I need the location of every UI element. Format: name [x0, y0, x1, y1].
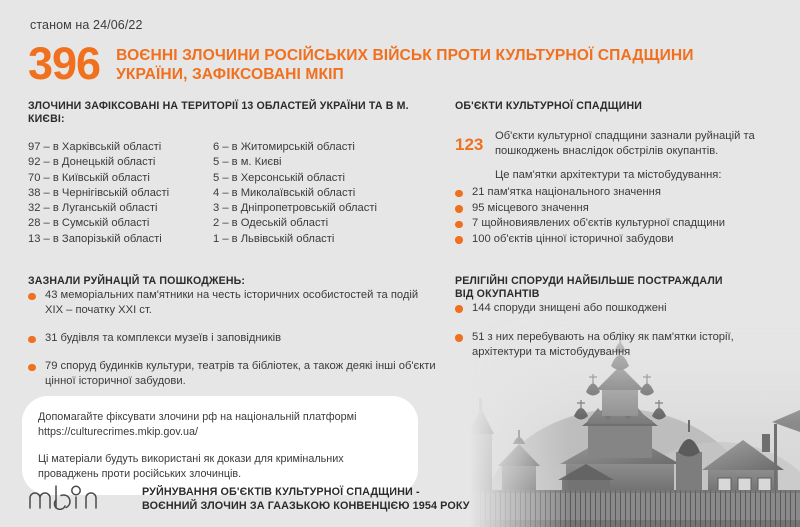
oblasts-grid: 97 – в Харківській області 92 – в Донець…	[28, 140, 438, 247]
right-column: ОБ'ЄКТИ КУЛЬТУРНОЇ СПАДЩИНИ 123 Об'єкти …	[455, 100, 785, 374]
oblast-row: 4 – в Миколаївській області	[213, 186, 398, 201]
headline-block: 396 ВОЄННІ ЗЛОЧИНИ РОСІЙСЬКИХ ВІЙСЬК ПРО…	[28, 42, 768, 86]
religious-list: 144 споруди знищені або пошкоджені 51 з …	[455, 301, 785, 360]
oblast-row: 97 – в Харківській області	[28, 140, 213, 155]
bullet-dot-icon	[455, 334, 463, 342]
list-item: 144 споруди знищені або пошкоджені	[455, 301, 785, 316]
oblast-row: 13 – в Запорізькій області	[28, 232, 213, 247]
oblasts-column-2: 6 – в Житомирській області 5 – в м. Києв…	[213, 140, 398, 247]
bullet-dot-icon	[28, 293, 36, 301]
footer-slogan-line-1: РУЙНУВАННЯ ОБ'ЄКТІВ КУЛЬТУРНОЇ СПАДЩИНИ …	[142, 485, 470, 499]
list-item: 95 місцевого значення	[455, 201, 785, 216]
date-label: станом на 24/06/22	[30, 18, 143, 32]
religious-title-line-1: РЕЛІГІЙНІ СПОРУДИ НАЙБІЛЬШЕ ПОСТРАЖДАЛИ	[455, 275, 785, 288]
oblast-row: 3 – в Дніпропетровській області	[213, 201, 398, 216]
heritage-hero: 123 Об'єкти культурної спадщини зазнали …	[455, 129, 785, 159]
bullet-dot-icon	[455, 305, 463, 313]
list-item-label: 43 меморіальних пам'ятники на честь істо…	[45, 289, 418, 316]
headline-text: ВОЄННІ ЗЛОЧИНИ РОСІЙСЬКИХ ВІЙСЬК ПРОТИ К…	[116, 42, 756, 84]
bullet-dot-icon	[455, 221, 463, 229]
infographic-poster: станом на 24/06/22 396 ВОЄННІ ЗЛОЧИНИ РО…	[0, 0, 800, 527]
religious-title-line-2: ВІД ОКУПАНТІВ	[455, 288, 785, 301]
list-item-label: 21 пам'ятка національного значення	[472, 186, 661, 198]
oblast-row: 2 – в Одеській області	[213, 216, 398, 231]
list-item: 31 будівля та комплекси музеїв і заповід…	[28, 331, 438, 346]
oblast-row: 6 – в Житомирській області	[213, 140, 398, 155]
footer-bar: РУЙНУВАННЯ ОБ'ЄКТІВ КУЛЬТУРНОЇ СПАДЩИНИ …	[0, 471, 800, 527]
list-item-label: 144 споруди знищені або пошкоджені	[472, 302, 667, 314]
damage-list: 43 меморіальних пам'ятники на честь істо…	[28, 288, 438, 389]
list-item-label: 95 місцевого значення	[472, 202, 589, 214]
oblast-row: 5 – в м. Києві	[213, 155, 398, 170]
bullet-dot-icon	[28, 364, 36, 372]
list-item: 21 пам'ятка національного значення	[455, 185, 785, 200]
heritage-description: Об'єкти культурної спадщини зазнали руйн…	[495, 129, 785, 159]
mkip-logo	[28, 484, 114, 515]
list-item: 100 об'єктів цінної історичної забудови	[455, 232, 785, 247]
list-item-label: 31 будівля та комплекси музеїв і заповід…	[45, 332, 281, 344]
oblast-row: 32 – в Луганській області	[28, 201, 213, 216]
heritage-list: 21 пам'ятка національного значення 95 мі…	[455, 185, 785, 247]
oblast-row: 38 – в Чернігівській області	[28, 186, 213, 201]
bullet-dot-icon	[455, 190, 463, 198]
footer-slogan: РУЙНУВАННЯ ОБ'ЄКТІВ КУЛЬТУРНОЇ СПАДЩИНИ …	[142, 485, 470, 513]
religious-section-title: РЕЛІГІЙНІ СПОРУДИ НАЙБІЛЬШЕ ПОСТРАЖДАЛИ …	[455, 275, 785, 301]
bullet-dot-icon	[455, 236, 463, 244]
bullet-dot-icon	[28, 336, 36, 344]
list-item: 7 щойновиявлених об'єктів культурної спа…	[455, 216, 785, 231]
oblasts-section-title: ЗЛОЧИНИ ЗАФІКСОВАНІ НА ТЕРИТОРІЇ 13 ОБЛА…	[28, 100, 438, 126]
oblast-row: 70 – в Київській області	[28, 171, 213, 186]
heritage-sub-intro: Це пам'ятки архітектури та містобудуванн…	[495, 168, 785, 183]
list-item-label: 100 об'єктів цінної історичної забудови	[472, 233, 674, 245]
heritage-section-title: ОБ'ЄКТИ КУЛЬТУРНОЇ СПАДЩИНИ	[455, 100, 785, 113]
damage-section-title: ЗАЗНАЛИ РУЙНАЦІЙ ТА ПОШКОДЖЕНЬ:	[28, 275, 438, 288]
list-item: 79 споруд будинків культури, театрів та …	[28, 359, 438, 389]
oblast-row: 92 – в Донецькій області	[28, 155, 213, 170]
left-column: ЗЛОЧИНИ ЗАФІКСОВАНІ НА ТЕРИТОРІЇ 13 ОБЛА…	[28, 100, 438, 402]
oblast-row: 28 – в Сумській області	[28, 216, 213, 231]
oblast-row: 1 – в Львівській області	[213, 232, 398, 247]
list-item-label: 7 щойновиявлених об'єктів культурної спа…	[472, 217, 725, 229]
bullet-dot-icon	[455, 205, 463, 213]
heritage-count-number: 123	[455, 129, 495, 152]
list-item-label: 51 з них перебувають на обліку як пам'ят…	[472, 331, 734, 358]
oblasts-column-1: 97 – в Харківській області 92 – в Донець…	[28, 140, 213, 247]
total-crimes-number: 396	[28, 42, 116, 86]
list-item: 43 меморіальних пам'ятники на честь істо…	[28, 288, 438, 318]
callout-paragraph-1: Допомагайте фіксувати злочини рф на наці…	[38, 410, 398, 439]
footer-slogan-line-2: ВОЄННИЙ ЗЛОЧИН ЗА ГААЗЬКОЮ КОНВЕНЦІЄЮ 19…	[142, 499, 470, 513]
list-item-label: 79 споруд будинків культури, театрів та …	[45, 360, 436, 387]
list-item: 51 з них перебувають на обліку як пам'ят…	[455, 330, 785, 360]
oblast-row: 5 – в Херсонській області	[213, 171, 398, 186]
